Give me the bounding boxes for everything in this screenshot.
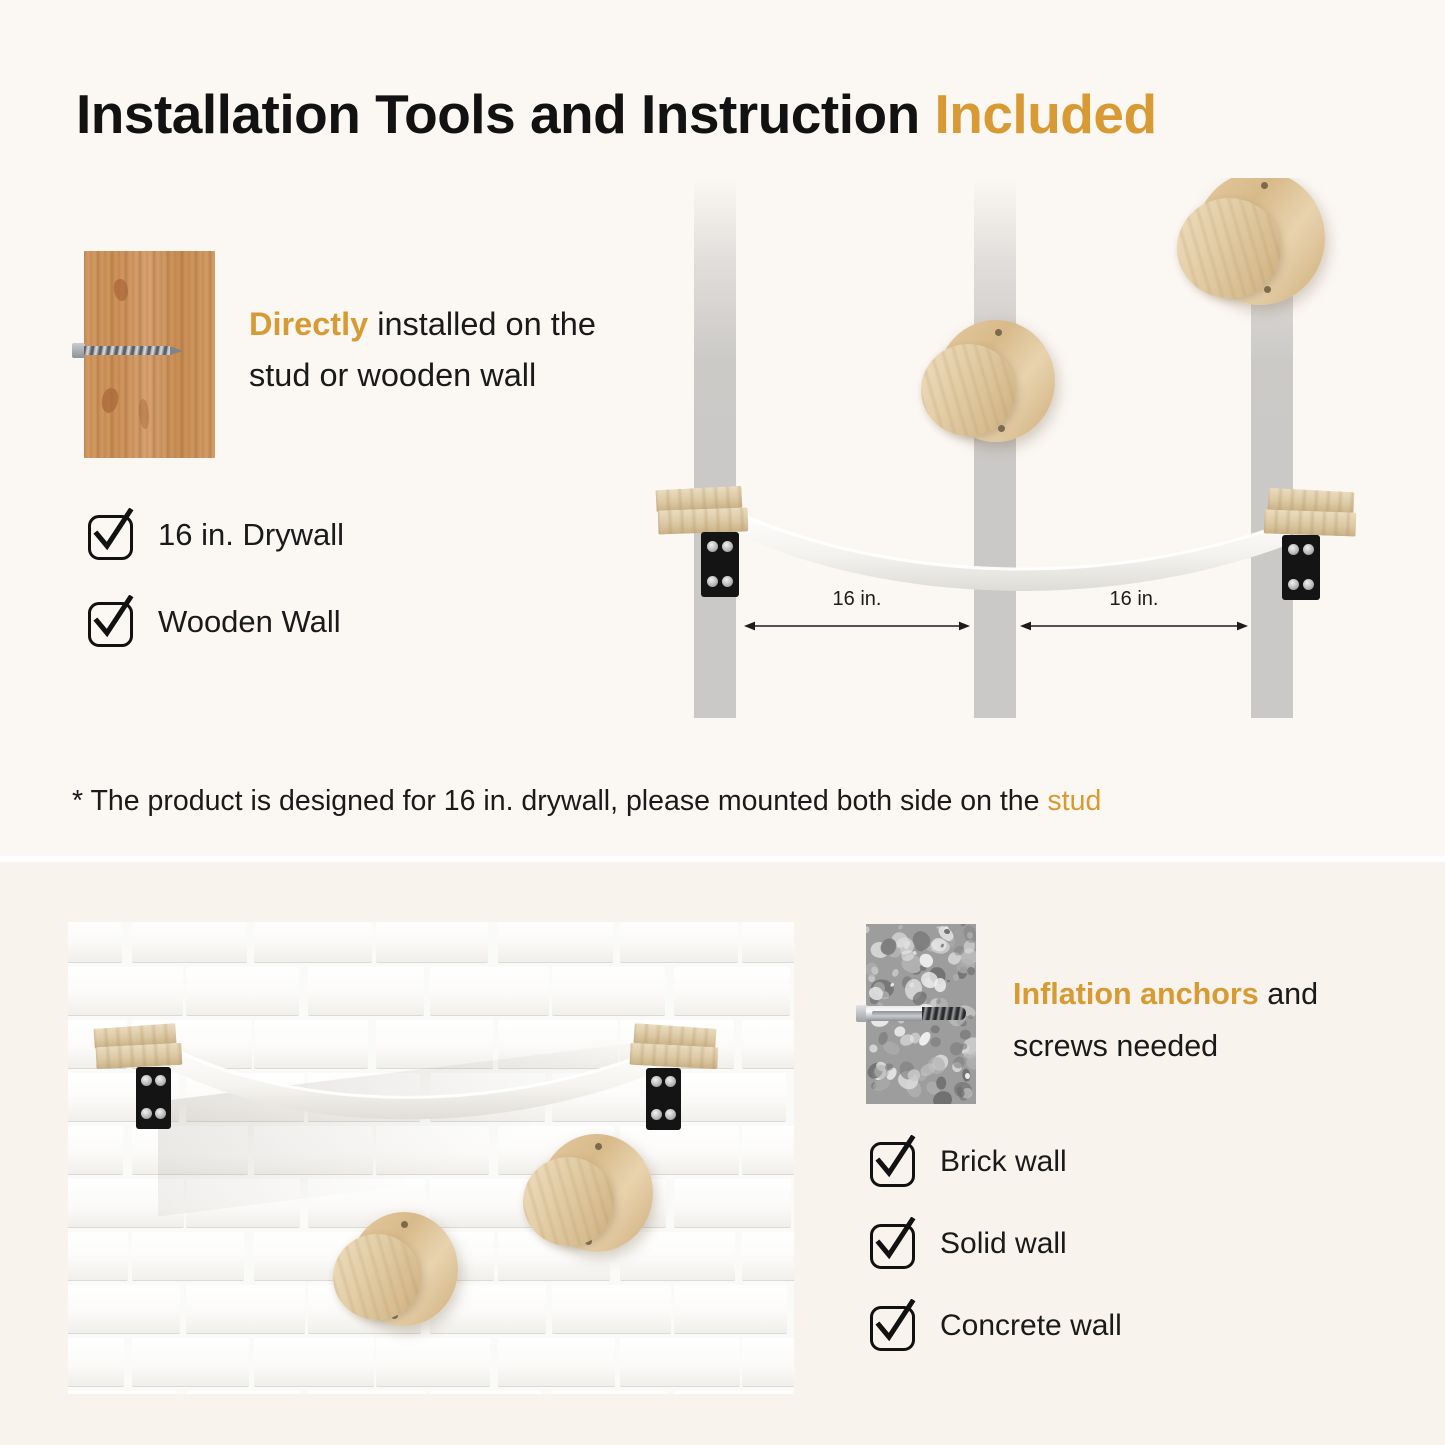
step-face-disc: [333, 1234, 421, 1320]
page-title: Installation Tools and Instruction Inclu…: [76, 82, 1396, 146]
screw-shaft: [84, 346, 172, 355]
concrete-aggregate-speck: [943, 928, 950, 934]
bolt-icon: [722, 541, 733, 552]
checklist-label: Wooden Wall: [158, 604, 341, 640]
screw-hole-icon: [1264, 286, 1271, 293]
bolt-icon: [1288, 544, 1299, 555]
bottom-checklist: Brick wall Solid wall Concrete wall: [868, 1135, 1122, 1381]
bolt-icon: [665, 1076, 676, 1087]
bolt-icon: [141, 1075, 152, 1086]
concrete-aggregate-speck: [929, 1035, 943, 1049]
concrete-aggregate-speck: [961, 924, 976, 945]
round-wooden-cat-step: [1175, 178, 1325, 313]
footnote-note: * The product is designed for 16 in. dry…: [72, 785, 1101, 818]
checkbox-checked-icon[interactable]: [86, 508, 139, 561]
screw-tip: [170, 346, 183, 355]
bolt-icon: [141, 1108, 152, 1119]
bolt-icon: [722, 576, 733, 587]
dimension-label: 16 in.: [744, 588, 970, 611]
black-metal-mounting-plate: [646, 1068, 681, 1130]
page-title-accent: Included: [934, 83, 1156, 145]
round-wooden-cat-step: [523, 1134, 653, 1258]
step-face-disc: [1177, 198, 1281, 298]
bolt-icon: [1303, 544, 1314, 555]
infographic-page: Installation Tools and Instruction Inclu…: [0, 0, 1445, 1445]
checkbox-checked-icon[interactable]: [868, 1217, 921, 1270]
concrete-panel-with-anchor-icon: [866, 924, 976, 1104]
concrete-aggregate-speck: [929, 1024, 940, 1034]
bracket-wood-slat: [629, 1043, 718, 1070]
wooden-bracket-left: [656, 488, 754, 618]
wood-panel-with-screw-icon: [84, 251, 215, 458]
concrete-aggregate-speck: [965, 966, 975, 976]
checklist-item-brick-wall[interactable]: Brick wall: [868, 1135, 1122, 1188]
black-metal-mounting-plate: [1282, 535, 1320, 600]
bottom-section-anchor-mounting: [0, 862, 1445, 1445]
stud-spacing-diagram: 16 in. 16 in.: [640, 178, 1400, 718]
concrete-aggregate-speck: [947, 979, 950, 982]
checkbox-checked-icon[interactable]: [868, 1135, 921, 1188]
checklist-label: Concrete wall: [940, 1309, 1122, 1343]
checklist-item-solid-wall[interactable]: Solid wall: [868, 1217, 1122, 1270]
checkbox-checked-icon[interactable]: [86, 595, 139, 648]
concrete-aggregate-speck: [868, 1044, 878, 1053]
checklist-item-drywall[interactable]: 16 in. Drywall: [86, 508, 344, 561]
round-wooden-cat-step: [921, 320, 1055, 448]
bracket-wood-slat: [1264, 509, 1357, 536]
step-face-disc: [921, 344, 1016, 436]
screw-icon: [72, 343, 186, 358]
dimension-16in-right: 16 in.: [1020, 588, 1248, 634]
checkbox-checked-icon[interactable]: [868, 1299, 921, 1352]
top-section-stud-mounting: Installation Tools and Instruction Inclu…: [0, 0, 1445, 858]
screw-hole-icon: [401, 1221, 408, 1228]
checklist-item-wooden-wall[interactable]: Wooden Wall: [86, 595, 344, 648]
screw-hole-icon: [995, 329, 1002, 336]
screw-hole-icon: [998, 425, 1005, 432]
bolt-icon: [707, 576, 718, 587]
black-metal-mounting-plate: [701, 532, 739, 597]
bolt-icon: [1288, 579, 1299, 590]
directly-accent: Directly: [249, 306, 368, 342]
concrete-aggregate-speck: [866, 961, 880, 979]
concrete-aggregate-speck: [866, 926, 871, 934]
bolt-icon: [665, 1109, 676, 1120]
footnote-text: * The product is designed for 16 in. dry…: [72, 785, 1047, 817]
bracket-wood-slat: [658, 507, 749, 534]
page-title-main: Installation Tools and Instruction: [76, 83, 934, 145]
checklist-label: 16 in. Drywall: [158, 517, 344, 553]
top-checklist: 16 in. Drywall Wooden Wall: [86, 508, 344, 682]
checklist-item-concrete-wall[interactable]: Concrete wall: [868, 1299, 1122, 1352]
anchor-sleeve: [866, 1006, 930, 1021]
inflation-anchors-description: Inflation anchors and screws needed: [1013, 968, 1413, 1072]
dimension-label: 16 in.: [1020, 588, 1248, 611]
step-face-disc: [523, 1157, 614, 1246]
bolt-icon: [155, 1108, 166, 1119]
footnote-accent: stud: [1047, 785, 1101, 817]
screw-hole-icon: [1261, 182, 1268, 189]
concrete-aggregate-speck: [885, 1063, 893, 1070]
bolt-icon: [1303, 579, 1314, 590]
concrete-aggregate-speck: [897, 924, 903, 930]
wooden-bracket-right: [1260, 490, 1365, 620]
concrete-aggregate-speck: [936, 1076, 947, 1089]
checklist-label: Brick wall: [940, 1145, 1067, 1179]
concrete-aggregate-speck: [891, 968, 900, 978]
bolt-icon: [155, 1075, 166, 1086]
anchor-screw: [922, 1007, 966, 1020]
wood-knot-icon: [112, 278, 130, 302]
concrete-aggregate-speck: [952, 974, 960, 982]
wood-knot-icon: [100, 387, 119, 414]
checklist-label: Solid wall: [940, 1227, 1067, 1261]
screw-hole-icon: [595, 1143, 602, 1150]
inflation-accent: Inflation anchors: [1013, 977, 1259, 1011]
brick-wall-installation-photo: [68, 922, 794, 1394]
dimension-16in-left: 16 in.: [744, 588, 970, 634]
black-metal-mounting-plate: [136, 1067, 171, 1129]
bolt-icon: [651, 1076, 662, 1087]
bracket-wood-slat: [95, 1043, 182, 1069]
expansion-anchor-icon: [856, 1005, 974, 1022]
wooden-bracket-left: [94, 1026, 189, 1156]
round-wooden-cat-step: [333, 1212, 458, 1332]
wood-knot-icon: [137, 399, 150, 430]
bolt-icon: [651, 1109, 662, 1120]
bolt-icon: [707, 541, 718, 552]
directly-installed-description: Directly installed on the stud or wooden…: [249, 299, 604, 401]
